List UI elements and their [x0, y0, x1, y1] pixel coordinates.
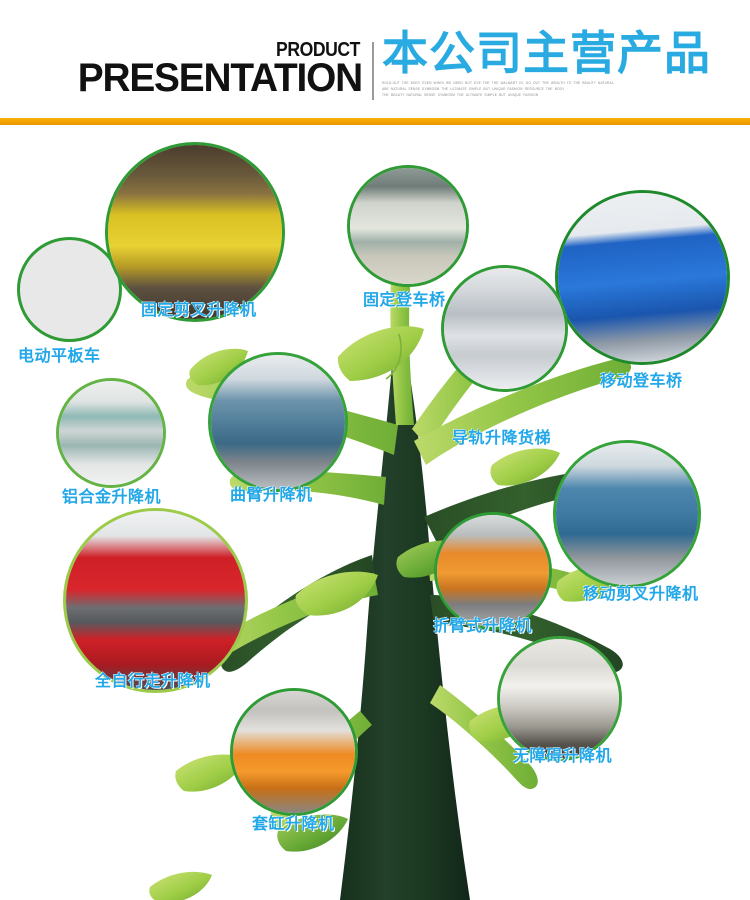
product-label-self-propelled-lift: 全自行走升降机 [95, 667, 211, 691]
page-header: PRODUCT PRESENTATION 本公司主营产品 HOLD-OUT TH… [0, 0, 750, 120]
tree-leaf [149, 872, 212, 900]
product-label-mobile-scissor-lift: 移动剪叉升降机 [583, 580, 699, 604]
product-photo-mobile-dock-ramp[interactable] [555, 190, 730, 365]
product-label-guide-rail-cargo-lift: 导轨升降货梯 [452, 424, 551, 448]
product-photo-image [500, 639, 619, 758]
product-photo-image [66, 511, 245, 690]
product-photo-image [437, 515, 549, 627]
product-photo-aluminum-alloy-lift[interactable] [56, 378, 166, 488]
product-photo-image [350, 168, 466, 284]
product-photo-image [108, 145, 282, 319]
header-title-en: PRESENTATION [71, 58, 362, 98]
tree-leaf [296, 572, 378, 616]
product-photo-image [558, 193, 727, 362]
product-photo-fixed-scissor-lift[interactable] [105, 142, 285, 322]
product-photo-image [444, 268, 565, 389]
product-photo-mobile-scissor-lift[interactable] [553, 440, 701, 588]
product-photo-image [556, 443, 698, 585]
english-title-block: PRODUCT PRESENTATION [62, 40, 362, 102]
product-label-fixed-dock-leveler: 固定登车桥 [363, 286, 446, 310]
product-photo-telescopic-cylinder-lift[interactable] [230, 688, 358, 816]
product-photo-image [20, 240, 119, 339]
header-accent-bar [0, 118, 750, 125]
product-photo-guide-rail-cargo-lift[interactable] [441, 265, 568, 392]
product-presentation-page: PRODUCT PRESENTATION 本公司主营产品 HOLD-OUT TH… [0, 0, 750, 900]
product-label-barrier-free-lift: 无障碍升降机 [513, 742, 612, 766]
product-label-articulated-boom-lift: 曲臂升降机 [230, 481, 313, 505]
product-photo-image [233, 691, 355, 813]
product-photo-articulated-boom-lift[interactable] [208, 352, 348, 492]
header-subtitle-line-3: THE BEAUTY NATURAL SENSE SYMBOSM THE ULT… [382, 92, 682, 98]
product-label-electric-flatbed-cart: 电动平板车 [18, 342, 101, 366]
product-label-folding-arm-lift: 折臂式升降机 [433, 612, 532, 636]
header-subtitle: HOLD-OUT THE BODY EVEN WHEN WE NEED NOT … [382, 80, 682, 98]
product-label-mobile-dock-ramp: 移动登车桥 [600, 367, 683, 391]
tree-leaf [338, 326, 424, 381]
product-photo-electric-flatbed-cart[interactable] [17, 237, 122, 342]
product-label-aluminum-alloy-lift: 铝合金升降机 [62, 483, 161, 507]
product-photo-image [59, 381, 163, 485]
header-divider [372, 42, 374, 100]
product-photo-image [211, 355, 345, 489]
product-label-telescopic-cylinder-lift: 套缸升降机 [252, 810, 335, 834]
product-label-fixed-scissor-lift: 固定剪叉升降机 [141, 296, 257, 320]
header-title-cn: 本公司主营产品 [382, 28, 711, 78]
product-photo-self-propelled-lift[interactable] [63, 508, 248, 693]
